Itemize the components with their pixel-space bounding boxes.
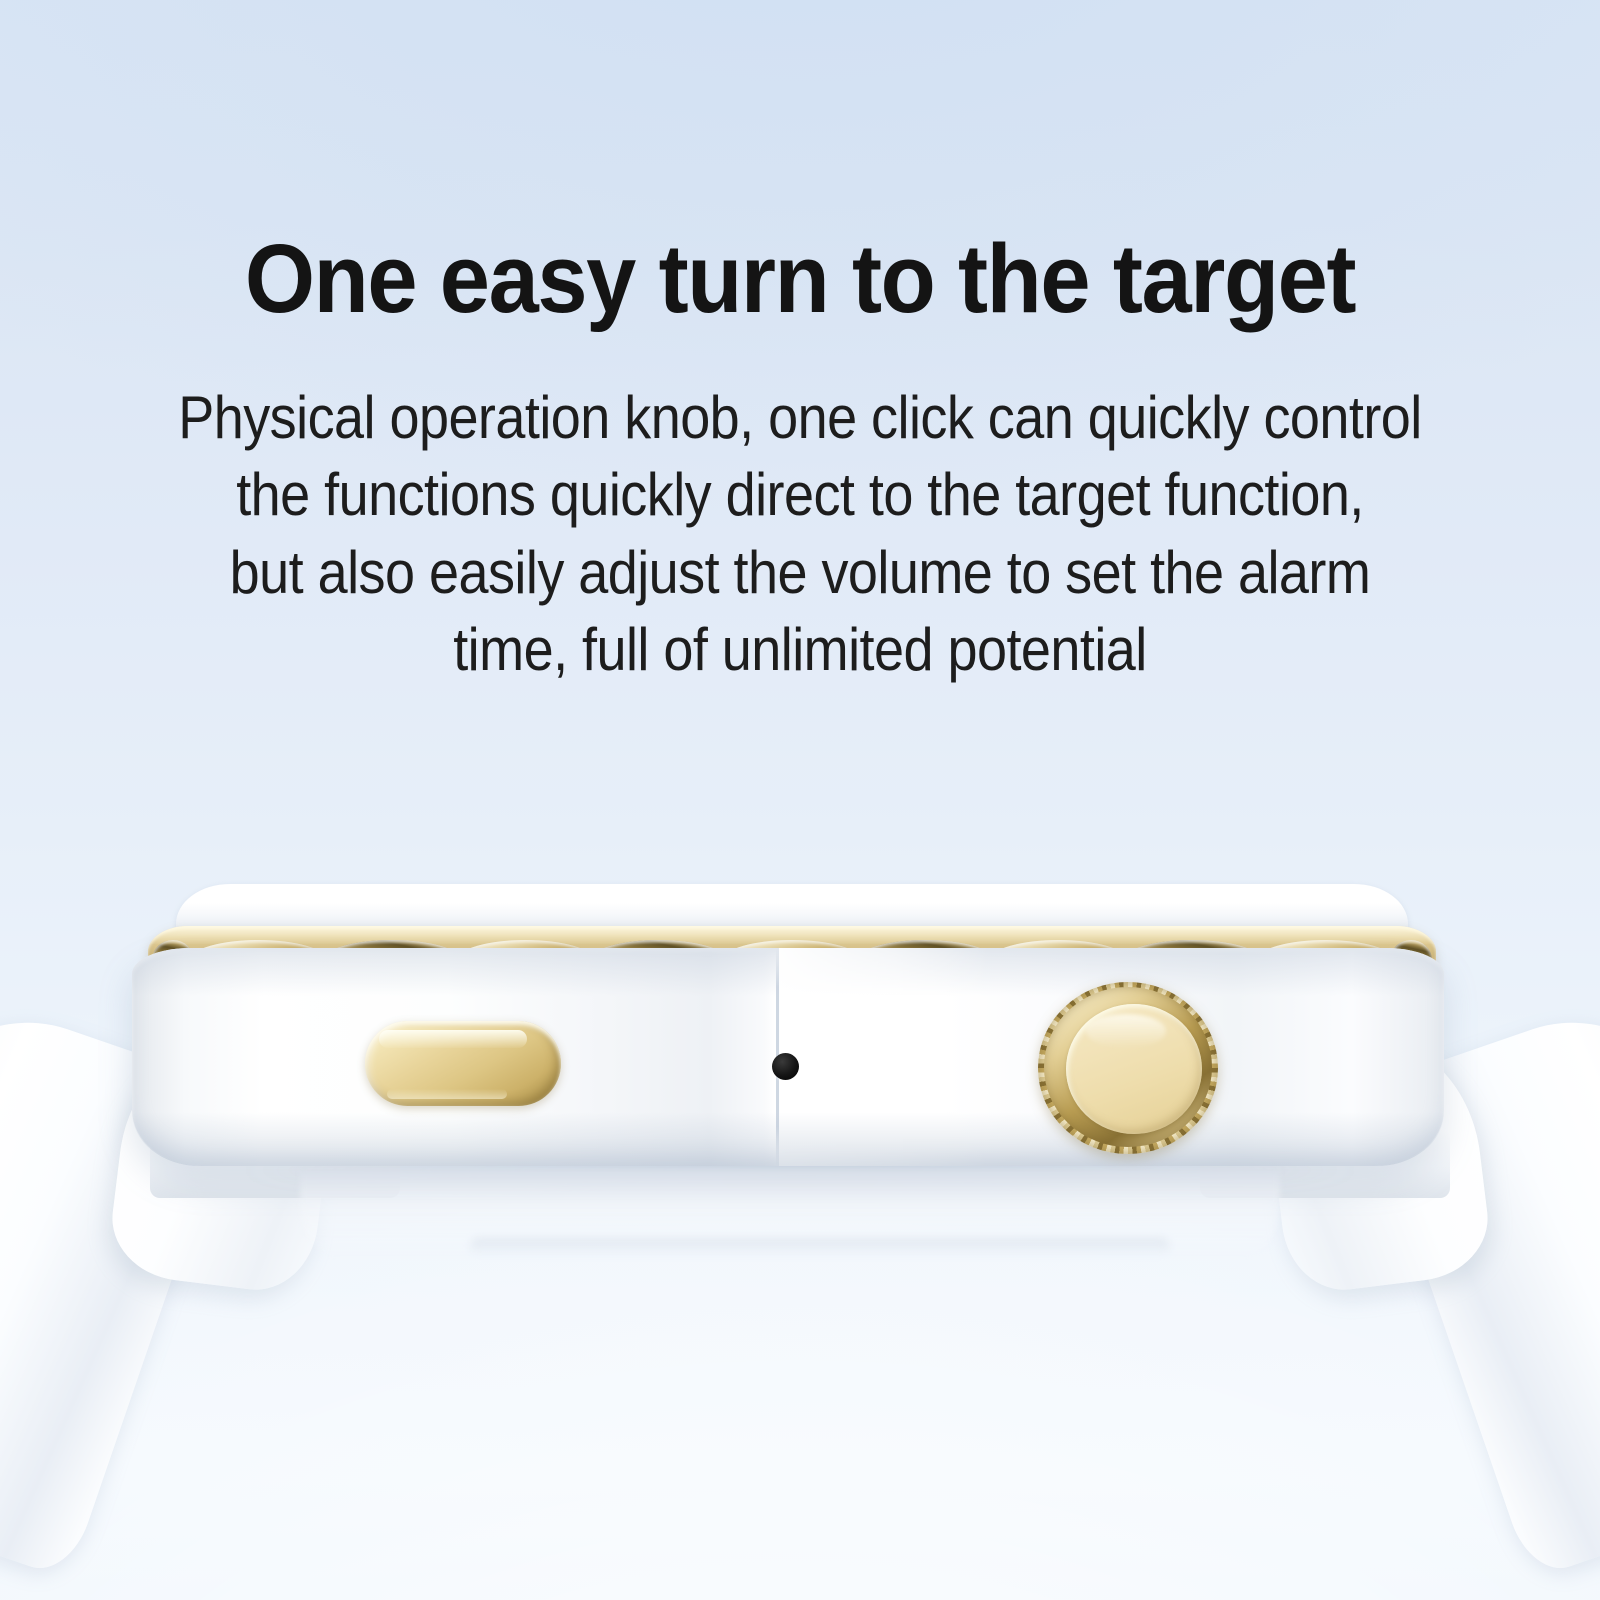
- product-banner: One easy turn to the target Physical ope…: [0, 0, 1600, 1600]
- bezel-gloss: [148, 926, 1436, 944]
- description-line-1: Physical operation knob, one click can q…: [80, 379, 1520, 456]
- page-title: One easy turn to the target: [56, 0, 1544, 331]
- glass-highlight: [236, 890, 1348, 906]
- description-line-2: the functions quickly direct to the targ…: [80, 456, 1520, 533]
- side-button-highlight: [379, 1030, 527, 1048]
- microphone-hole: [772, 1053, 799, 1080]
- rotating-crown[interactable]: [1038, 982, 1218, 1154]
- description-paragraph: Physical operation knob, one click can q…: [80, 331, 1520, 689]
- surface-reflection-line: [470, 1238, 1170, 1256]
- copy-block: One easy turn to the target Physical ope…: [0, 0, 1600, 688]
- description-line-4: time, full of unlimited potential: [80, 611, 1520, 688]
- description-line-3: but also easily adjust the volume to set…: [80, 534, 1520, 611]
- side-button-lower-highlight: [387, 1089, 507, 1099]
- crown-face: [1066, 1004, 1202, 1134]
- side-button[interactable]: [365, 1021, 561, 1106]
- case-bottom-shading: [132, 1112, 1444, 1166]
- crown-face-highlight: [1086, 1014, 1166, 1048]
